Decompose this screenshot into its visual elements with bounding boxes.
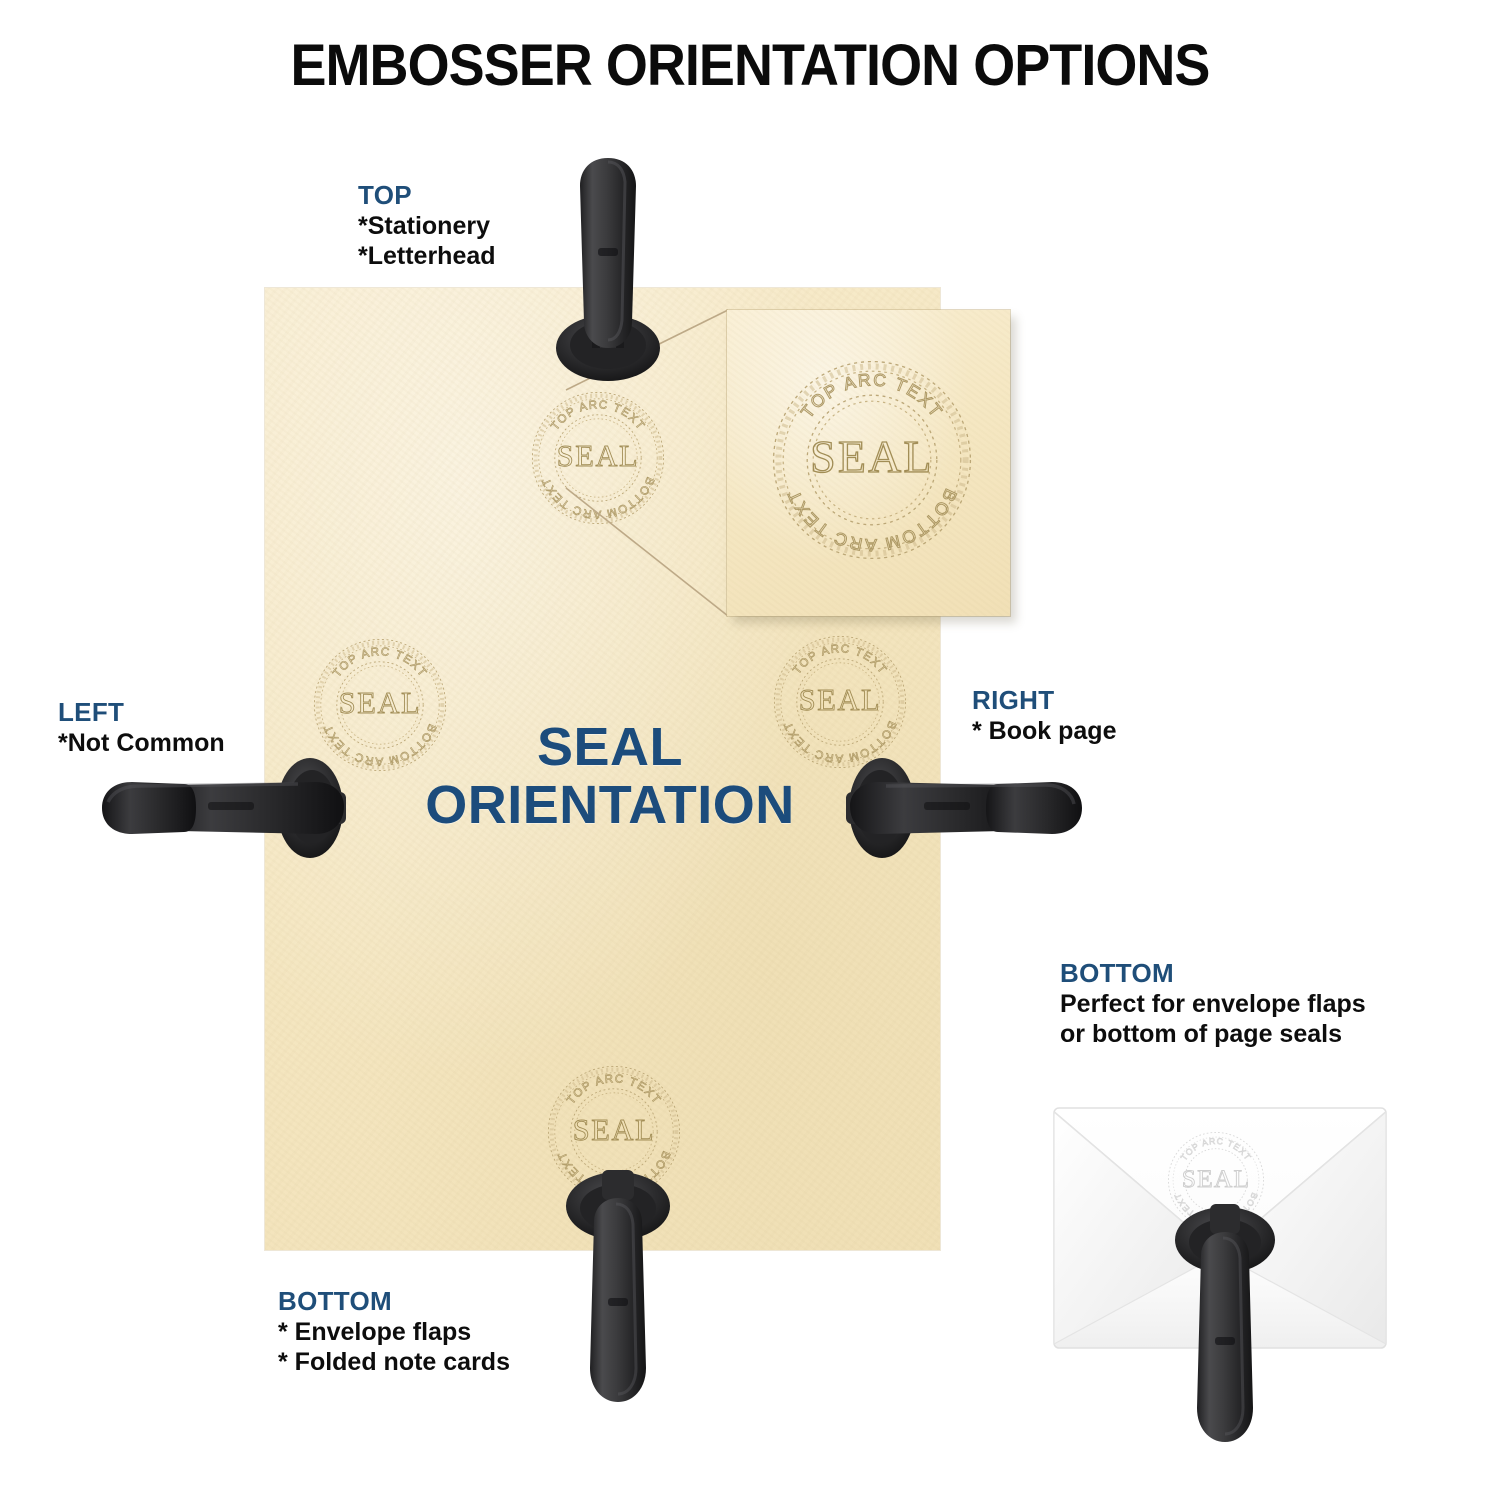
seal-impression-magnified: [752, 340, 992, 580]
label-top: TOP *Stationery *Letterhead: [358, 180, 496, 272]
label-bottom-right-line-2: or bottom of page seals: [1060, 1019, 1366, 1050]
embosser-bottom: [558, 1148, 678, 1410]
label-right: RIGHT * Book page: [972, 685, 1116, 746]
infographic-canvas: EMBOSSER ORIENTATION OPTIONS TOP ARC TEX…: [0, 0, 1500, 1500]
magnified-seal-callout: [727, 310, 1010, 616]
center-heading-line2: ORIENTATION: [330, 776, 890, 834]
center-heading: SEAL ORIENTATION: [330, 718, 890, 835]
page-title: EMBOSSER ORIENTATION OPTIONS: [53, 32, 1448, 99]
label-right-head: RIGHT: [972, 685, 1116, 716]
label-bottom-head: BOTTOM: [278, 1286, 510, 1317]
label-bottom-right: BOTTOM Perfect for envelope flaps or bot…: [1060, 958, 1366, 1050]
label-bottom: BOTTOM * Envelope flaps * Folded note ca…: [278, 1286, 510, 1378]
label-top-line-2: *Letterhead: [358, 241, 496, 272]
embosser-envelope: [1170, 1182, 1280, 1450]
center-heading-line1: SEAL: [537, 717, 683, 777]
label-top-head: TOP: [358, 180, 496, 211]
embosser-top: [548, 152, 668, 382]
label-right-line-1: * Book page: [972, 716, 1116, 747]
label-top-line-1: *Stationery: [358, 211, 496, 242]
label-bottom-line-2: * Folded note cards: [278, 1347, 510, 1378]
label-left: LEFT *Not Common: [58, 697, 225, 758]
seal-impression-top: TOP ARC TEXT BOTTOM ARC TEXT SEAL: [518, 378, 678, 538]
embosser-left: [88, 752, 350, 860]
label-bottom-right-head: BOTTOM: [1060, 958, 1366, 989]
label-bottom-right-line-1: Perfect for envelope flaps: [1060, 989, 1366, 1020]
label-left-head: LEFT: [58, 697, 225, 728]
label-left-line-1: *Not Common: [58, 728, 225, 759]
label-bottom-line-1: * Envelope flaps: [278, 1317, 510, 1348]
